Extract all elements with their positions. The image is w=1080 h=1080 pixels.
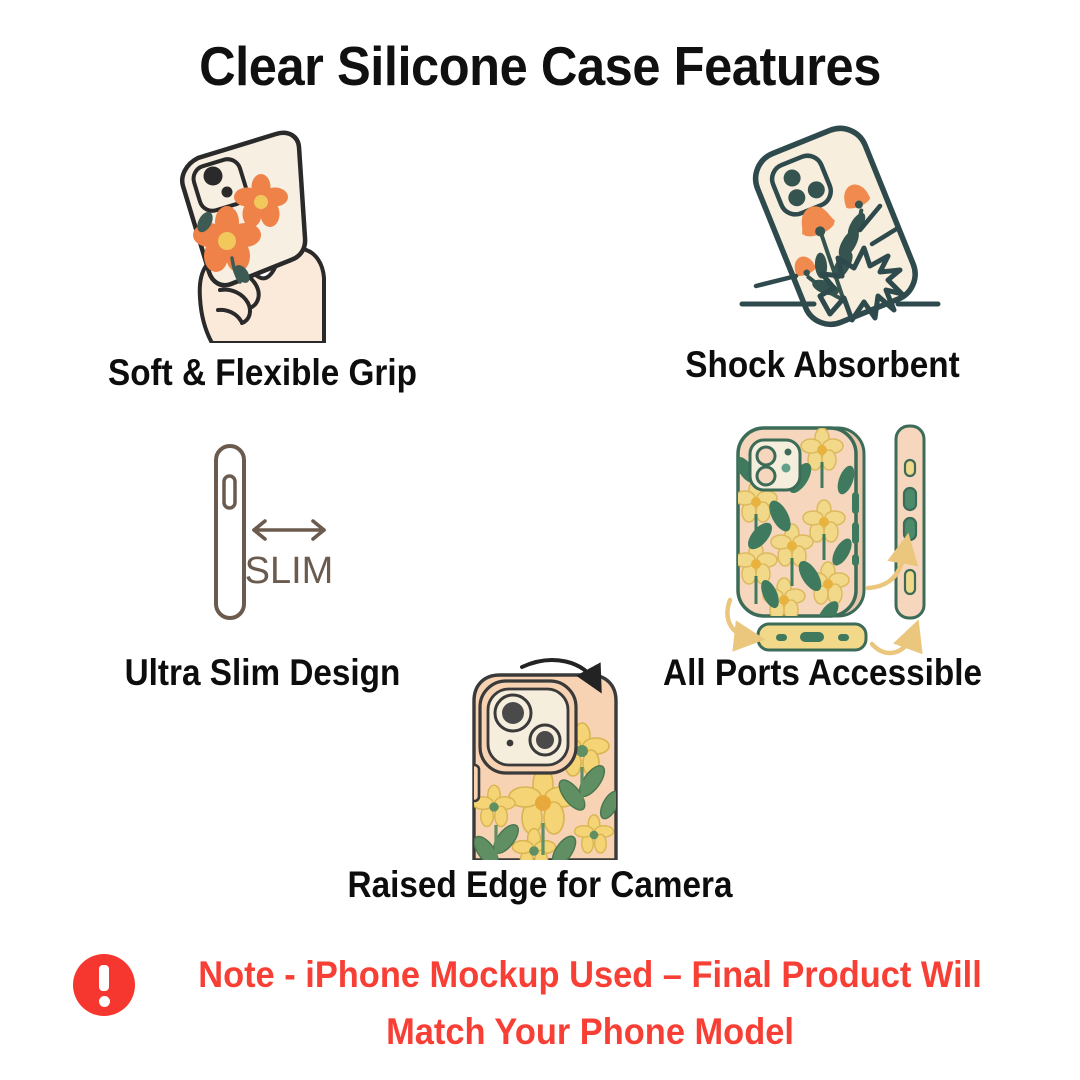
phone-side-profile-slim-icon: SLIM (178, 428, 388, 633)
feature-label-ultra-slim-design: Ultra Slim Design (49, 652, 477, 694)
feature-label-soft-flexible-grip: Soft & Flexible Grip (49, 352, 477, 394)
feature-label-shock-absorbent: Shock Absorbent (609, 344, 1037, 386)
slim-badge-text: SLIM (245, 550, 334, 592)
exclamation-dot (99, 996, 110, 1007)
note-banner: Note - iPhone Mockup Used – Final Produc… (0, 946, 1080, 1056)
note-line-1: Note - iPhone Mockup Used – Final Produc… (198, 954, 982, 995)
page-title: Clear Silicone Case Features (43, 34, 1037, 98)
infographic-page: Clear Silicone Case Features (0, 0, 1080, 1080)
phone-case-impact-burst-icon (712, 118, 952, 340)
feature-label-all-ports-accessible: All Ports Accessible (609, 652, 1037, 694)
exclamation-bar (99, 965, 109, 991)
phone-case-ports-cutouts-icon (700, 418, 950, 663)
hand-flexing-phone-case-icon (128, 118, 368, 343)
note-text: Note - iPhone Mockup Used – Final Produc… (172, 946, 1009, 1060)
phone-case-camera-bump-icon (450, 655, 665, 860)
feature-label-raised-edge-for-camera: Raised Edge for Camera (270, 864, 810, 906)
note-line-2: Match Your Phone Model (172, 1003, 1009, 1060)
exclamation-circle-icon (73, 954, 135, 1016)
